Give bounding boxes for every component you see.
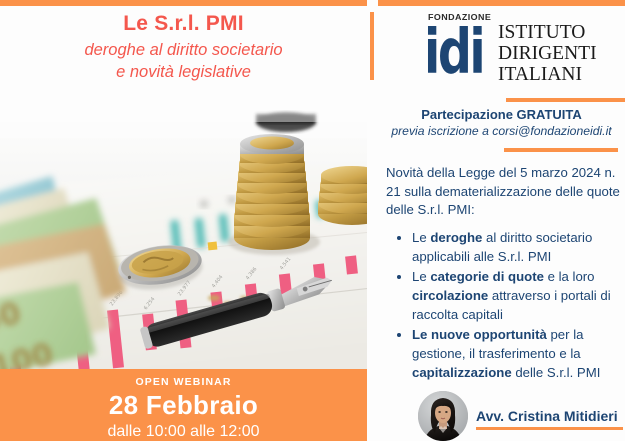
participation-block: Partecipazione GRATUITA previa iscrizion… <box>378 98 625 138</box>
hero-photo-illustration: 2.142 3.306 13.644 23.896 6.254 23.977 4… <box>0 92 367 369</box>
avatar-portrait <box>418 391 468 441</box>
webinar-kicker: OPEN WEBINAR <box>0 369 367 388</box>
title-block: Le S.r.l. PMI deroghe al diritto societa… <box>0 6 367 92</box>
emphasis-text: Le nuove opportunità <box>412 327 547 342</box>
speaker-name-underline <box>476 427 623 430</box>
emphasis-text: circolazione <box>412 288 488 303</box>
webinar-poster: Le S.r.l. PMI deroghe al diritto societa… <box>0 0 625 441</box>
logo-word-istituto: ISTITUTO <box>498 22 597 43</box>
webinar-date: 28 Febbraio <box>0 388 367 421</box>
participation-registration-note: previa iscrizione a corsi@fondazioneidi.… <box>378 122 625 138</box>
page-title: Le S.r.l. PMI <box>0 6 367 36</box>
page-subtitle-line-2: e novità legislative <box>116 63 251 81</box>
list-item: Le nuove opportunità per la gestione, il… <box>412 325 625 382</box>
logo-word-dirigenti: DIRIGENTI <box>498 43 597 64</box>
webinar-time: dalle 10:00 alle 12:00 <box>0 421 367 441</box>
logo-idi-mark: idi <box>424 21 483 82</box>
right-column: FONDAZIONE idi ISTITUTO DIRIGENTI ITALIA… <box>378 6 625 441</box>
speaker-name: Avv. Cristina Mitidieri <box>476 408 618 424</box>
emphasis-text: deroghe <box>430 230 482 245</box>
hero-photo: 2.142 3.306 13.644 23.896 6.254 23.977 4… <box>0 92 367 369</box>
plain-text: Le <box>412 269 430 284</box>
rule-below-participation <box>504 148 618 152</box>
plain-text: Le <box>412 230 430 245</box>
fondazione-idi-logo: FONDAZIONE idi ISTITUTO DIRIGENTI ITALIA… <box>424 12 620 90</box>
list-item: Le categorie di quote e la loro circolaz… <box>412 267 625 324</box>
page-subtitle: deroghe al diritto societario e novità l… <box>0 36 367 84</box>
page-subtitle-line-1: deroghe al diritto societario <box>84 41 282 59</box>
rule-above-participation <box>506 98 625 102</box>
logo-institute-name: ISTITUTO DIRIGENTI ITALIANI <box>498 22 597 85</box>
logo-word-italiani: ITALIANI <box>498 64 597 85</box>
emphasis-text: capitalizzazione <box>412 365 512 380</box>
plain-text: e la loro <box>544 269 595 284</box>
vertical-divider <box>370 12 374 80</box>
speaker-block: Avv. Cristina Mitidieri <box>418 391 625 441</box>
webinar-date-banner: OPEN WEBINAR 28 Febbraio dalle 10:00 all… <box>0 369 367 441</box>
avatar <box>418 391 468 441</box>
left-column: Le S.r.l. PMI deroghe al diritto societa… <box>0 6 367 441</box>
emphasis-text: categorie di quote <box>430 269 544 284</box>
list-item: Le deroghe al diritto societario applica… <box>412 228 625 266</box>
topics-list: Le deroghe al diritto societario applica… <box>394 228 625 383</box>
plain-text: delle S.r.l. PMI <box>512 365 601 380</box>
law-intro-paragraph: Novità della Legge del 5 marzo 2024 n. 2… <box>386 164 622 220</box>
